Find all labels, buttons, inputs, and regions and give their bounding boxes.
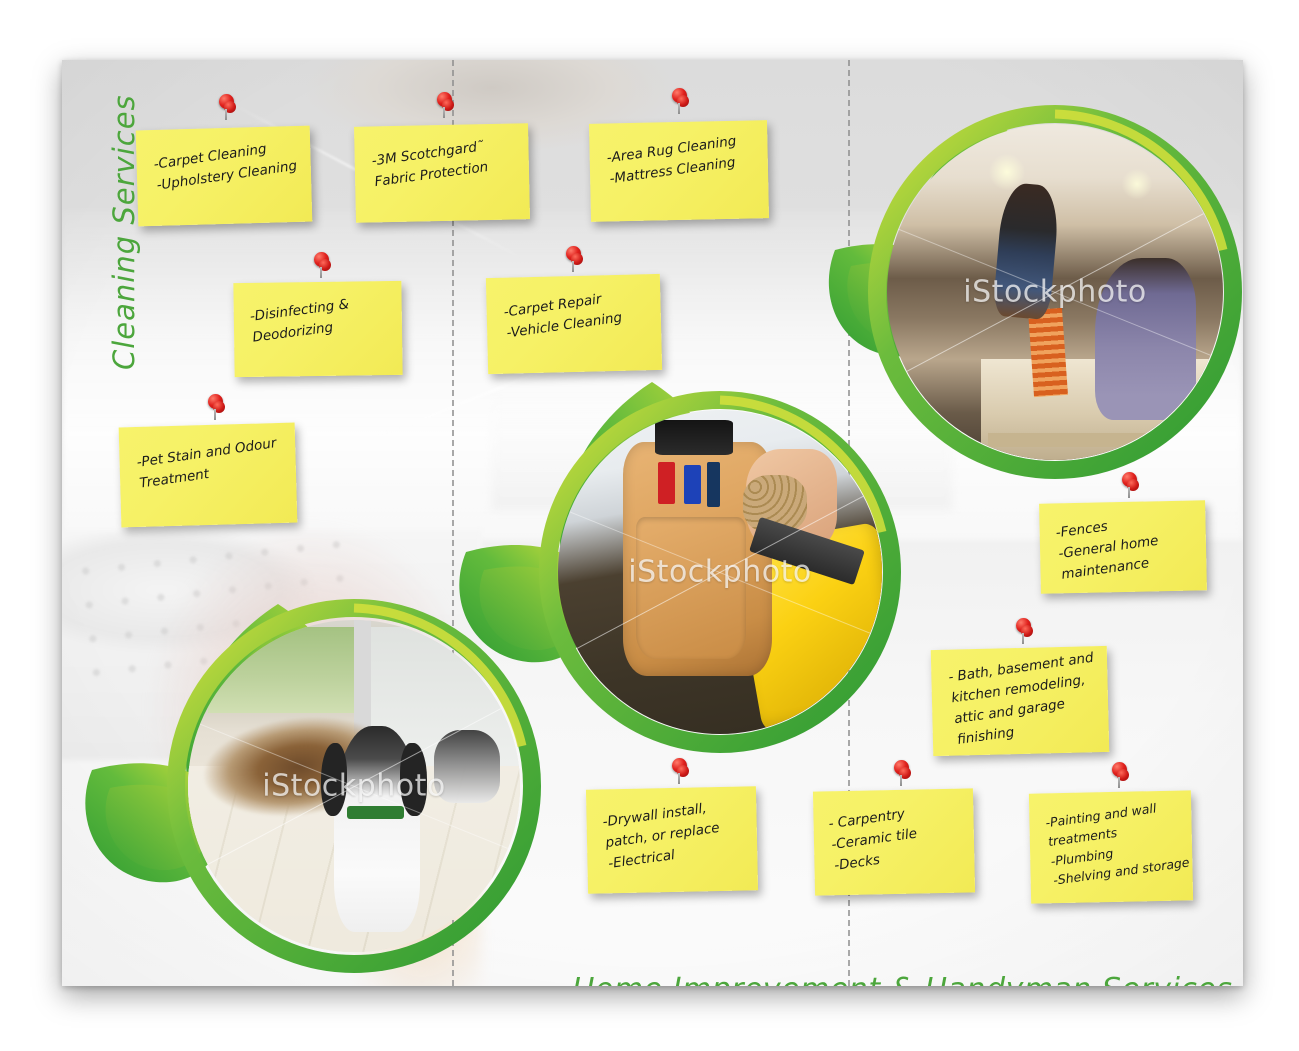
sticky-note-text: -Disinfecting & Deodorizing xyxy=(249,288,404,349)
tool-cylinder xyxy=(655,420,733,456)
sticky-note[interactable]: -Carpet Repair -Vehicle Cleaning xyxy=(486,274,662,374)
photo-muddy-dog: iStockphoto xyxy=(188,620,520,952)
sticky-note-text: -3M Scotchgard˜ Fabric Protection xyxy=(370,130,531,192)
sticky-note[interactable]: -Painting and wall treatments -Plumbing … xyxy=(1029,790,1193,903)
puppy-collar xyxy=(347,806,403,819)
sticky-note[interactable]: -3M Scotchgard˜ Fabric Protection xyxy=(354,123,530,223)
sticky-note-text: -Carpet Repair -Vehicle Cleaning xyxy=(502,281,663,344)
sticky-note-text: - Carpentry -Ceramic tile -Decks xyxy=(828,795,979,876)
sticky-note-text: -Fences -General home maintenance xyxy=(1054,503,1210,585)
worker-on-ladder xyxy=(992,182,1061,321)
sticky-note[interactable]: - Bath, basement and kitchen remodeling,… xyxy=(931,646,1110,756)
second-dog xyxy=(434,730,500,803)
handyman-services-title: Home Improvement & Handyman Services xyxy=(572,972,1232,986)
sticky-note[interactable]: -Fences -General home maintenance xyxy=(1039,500,1207,593)
puppy-ear-right xyxy=(400,743,427,816)
worker-measuring xyxy=(1095,258,1196,419)
sticky-note[interactable]: -Pet Stain and Odour Treatment xyxy=(119,423,298,528)
sticky-note[interactable]: -Disinfecting & Deodorizing xyxy=(233,281,402,377)
screenshot-canvas: Cleaning Services Home Improvement & Han… xyxy=(0,0,1299,1051)
sticky-note-text: -Drywall install, patch, or replace -Ele… xyxy=(602,792,762,875)
sticky-note[interactable]: -Area Rug Cleaning -Mattress Cleaning xyxy=(589,120,769,222)
tool-dark xyxy=(707,462,720,507)
photo-toolbelt: iStockphoto xyxy=(558,410,882,734)
tool-pouch-front xyxy=(636,517,746,660)
photo-medallion-dog: iStockphoto xyxy=(82,590,552,986)
sticky-note[interactable]: -Carpet Cleaning -Upholstery Cleaning xyxy=(136,126,313,227)
kitchen-cabinet-rail xyxy=(988,433,1216,446)
window xyxy=(208,627,354,713)
screwdriver-red xyxy=(658,462,674,504)
sticky-note-text: -Painting and wall treatments -Plumbing … xyxy=(1044,794,1199,890)
photo-kitchen-remodel: iStockphoto xyxy=(887,124,1223,460)
sticky-note-text: -Carpet Cleaning -Upholstery Cleaning xyxy=(152,133,313,196)
step-ladder xyxy=(1028,308,1068,397)
screwdriver-blue xyxy=(684,465,700,504)
sticky-note-text: -Pet Stain and Odour Treatment xyxy=(135,431,298,495)
trifold-brochure-page: Cleaning Services Home Improvement & Han… xyxy=(62,60,1243,986)
sticky-note[interactable]: -Drywall install, patch, or replace -Ele… xyxy=(586,786,758,894)
sticky-note-text: -Area Rug Cleaning -Mattress Cleaning xyxy=(606,128,770,191)
sticky-note[interactable]: - Carpentry -Ceramic tile -Decks xyxy=(813,788,975,895)
sticky-note-text: - Bath, basement and kitchen remodeling,… xyxy=(947,646,1115,751)
